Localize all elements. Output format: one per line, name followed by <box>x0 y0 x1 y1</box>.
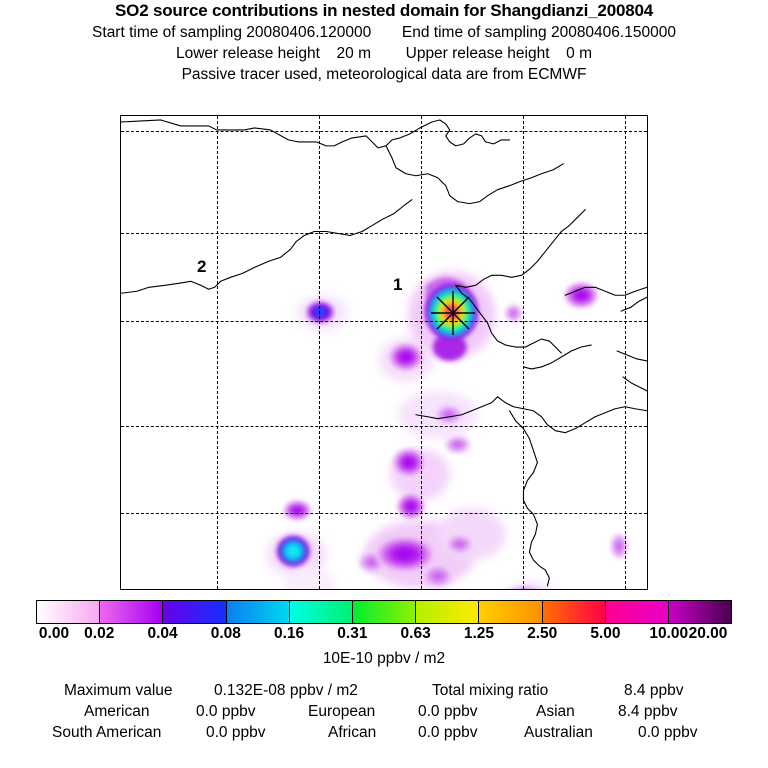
region-name-american: American <box>84 703 149 721</box>
colorbar-segment-0[interactable] <box>37 601 100 623</box>
colorbar-segment-8[interactable] <box>543 601 606 623</box>
region-value-european: 0.0 ppbv <box>418 703 477 721</box>
lower-release-label: Lower release height <box>176 45 320 62</box>
map-plot-area[interactable]: 1 2 <box>120 115 648 590</box>
colorbar-segment-6[interactable] <box>416 601 479 623</box>
summary-stats: Maximum value 0.132E-08 ppbv / m2 Total … <box>0 682 768 745</box>
tracer-note: Passive tracer used, meteorological data… <box>0 64 768 85</box>
colorbar-segment-5[interactable] <box>353 601 416 623</box>
region-value-african: 0.0 ppbv <box>418 724 477 742</box>
colorbar-tick-2: 0.04 <box>147 625 177 643</box>
colorbar-segment-7[interactable] <box>479 601 542 623</box>
colorbar-tick-7: 1.25 <box>464 625 494 643</box>
region-value-asian: 8.4 ppbv <box>618 703 677 721</box>
upper-release-value: 0 m <box>566 45 592 62</box>
stats-row-total: Maximum value 0.132E-08 ppbv / m2 Total … <box>0 682 768 703</box>
region-label-2: 2 <box>197 258 206 275</box>
colorbar-tick-1: 0.02 <box>84 625 114 643</box>
sampling-time-line: Start time of sampling 20080406.120000 E… <box>0 22 768 43</box>
total-ratio-label: Total mixing ratio <box>432 682 548 700</box>
concentration-field <box>121 116 647 589</box>
region-value-south-american: 0.0 ppbv <box>206 724 265 742</box>
region-name-european: European <box>308 703 375 721</box>
colorbar-segment-1[interactable] <box>100 601 163 623</box>
colorbar-segment-9[interactable] <box>606 601 669 623</box>
start-time-label: Start time of sampling <box>92 24 242 41</box>
region-name-australian: Australian <box>524 724 593 742</box>
colorbar-tick-9: 5.00 <box>590 625 620 643</box>
start-time-value: 20080406.120000 <box>246 24 371 41</box>
colorbar-tick-4: 0.16 <box>274 625 304 643</box>
colorbar-units-label: 10E-10 ppbv / m2 <box>0 650 768 668</box>
region-value-australian: 0.0 ppbv <box>638 724 697 742</box>
region-value-american: 0.0 ppbv <box>196 703 255 721</box>
colorbar-tick-11: 20.00 <box>689 625 728 643</box>
figure-header: SO2 source contributions in nested domai… <box>0 0 768 85</box>
colorbar-segment-4[interactable] <box>290 601 353 623</box>
colorbar-strip[interactable] <box>36 600 732 624</box>
colorbar-tick-8: 2.50 <box>527 625 557 643</box>
region-name-asian: Asian <box>536 703 575 721</box>
colorbar-tick-labels: 0.000.020.040.080.160.310.631.252.505.00… <box>36 625 732 645</box>
colorbar-tick-6: 0.63 <box>401 625 431 643</box>
total-ratio-value: 8.4 ppbv <box>624 682 683 700</box>
region-label-1: 1 <box>393 276 402 293</box>
colorbar-tick-10: 10.00 <box>649 625 688 643</box>
region-name-south-american: South American <box>52 724 161 742</box>
end-time-label: End time of sampling <box>402 24 547 41</box>
max-value-label: Maximum value <box>64 682 173 700</box>
colorbar-segment-10[interactable] <box>669 601 731 623</box>
colorbar-tick-3: 0.08 <box>211 625 241 643</box>
region-name-african: African <box>328 724 376 742</box>
colorbar-tick-0: 0.00 <box>39 625 69 643</box>
colorbar-segment-3[interactable] <box>227 601 290 623</box>
page-title: SO2 source contributions in nested domai… <box>0 0 768 22</box>
max-value-value: 0.132E-08 ppbv / m2 <box>214 682 358 700</box>
stats-row-primary: American 0.0 ppbv European 0.0 ppbv Asia… <box>0 703 768 724</box>
stats-row-secondary: South American 0.0 ppbv African 0.0 ppbv… <box>0 724 768 745</box>
release-height-line: Lower release height 20 m Upper release … <box>0 43 768 64</box>
colorbar-segment-2[interactable] <box>163 601 226 623</box>
upper-release-label: Upper release height <box>406 45 550 62</box>
colorbar[interactable]: 0.000.020.040.080.160.310.631.252.505.00… <box>36 600 732 624</box>
lower-release-value: 20 m <box>337 45 371 62</box>
end-time-value: 20080406.150000 <box>551 24 676 41</box>
colorbar-tick-5: 0.31 <box>337 625 367 643</box>
